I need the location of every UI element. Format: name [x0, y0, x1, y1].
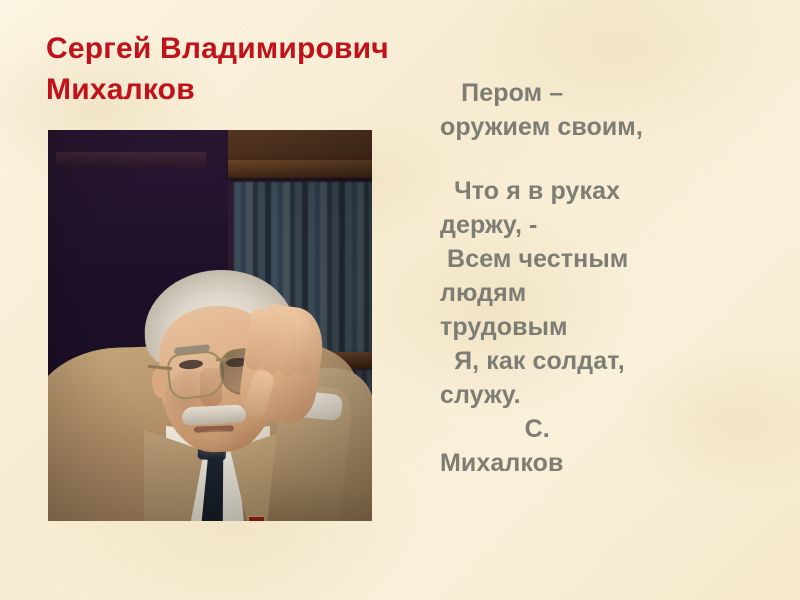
poem-line: Что я в руках	[440, 174, 784, 208]
portrait-photo-image	[48, 130, 372, 521]
portrait-photo	[48, 130, 372, 521]
award-medal-ribbon	[248, 516, 265, 521]
poem-line: оружием своим,	[440, 110, 784, 144]
poem-line: С.	[440, 412, 784, 446]
wall-picture-frame	[56, 152, 206, 168]
mustache	[182, 404, 247, 425]
poem-line: служу.	[440, 378, 784, 412]
bookshelf-rail-upper	[228, 160, 372, 178]
poem-line: Пером –	[440, 76, 784, 110]
page-title-line-1: Сергей Владимирович	[46, 28, 566, 69]
slide-canvas: Сергей Владимирович Михалков	[0, 0, 800, 600]
poem-line: Михалков	[440, 446, 784, 480]
poem-line-spacer	[440, 144, 784, 174]
poem-line: Всем честным	[440, 242, 784, 276]
poem-line: держу, -	[440, 208, 784, 242]
poem-line: людям	[440, 276, 784, 310]
poem-text-block: Пером –оружием своим, Что я в рукахдержу…	[440, 76, 784, 480]
finger-4	[295, 318, 312, 376]
poem-line: трудовым	[440, 310, 784, 344]
chin	[188, 430, 244, 458]
poem-line: Я, как солдат,	[440, 344, 784, 378]
